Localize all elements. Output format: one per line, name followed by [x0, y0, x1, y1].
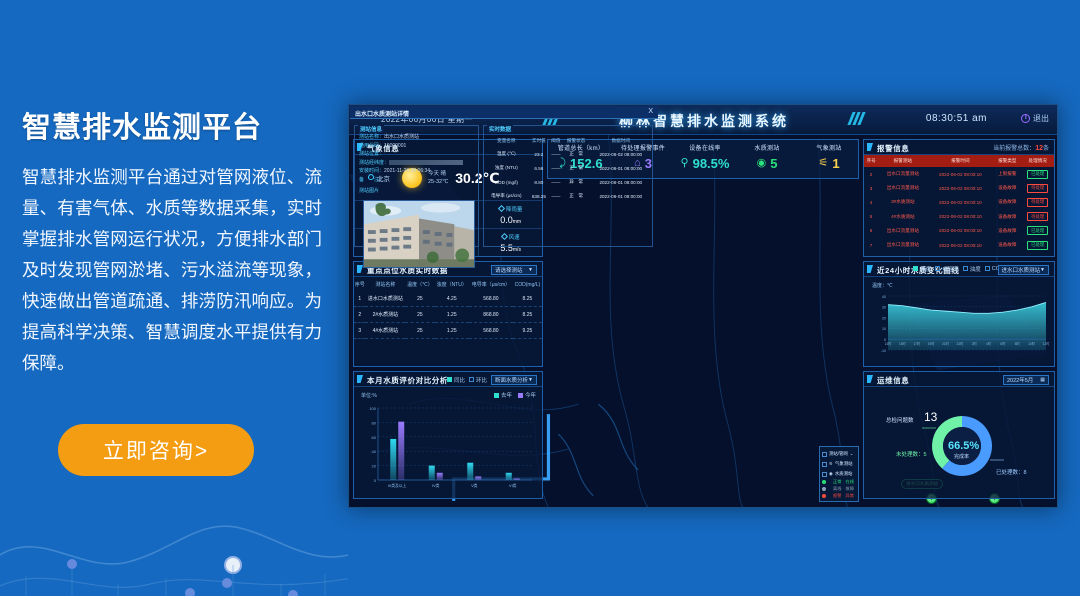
- wave-decoration: [0, 466, 348, 596]
- svg-text:6时: 6时: [1000, 341, 1006, 346]
- bar-panel-header: 本月水质评价对比分析 同比 环比 断面水质分析 ▼: [354, 372, 542, 387]
- rt-value: 8.80: [529, 175, 550, 189]
- alarm-time: 2022-06-02 08:00:10: [928, 195, 994, 209]
- info-key: 安装时间：: [359, 168, 384, 174]
- alarm-type: 设备故障: [993, 195, 1021, 209]
- legend-state-label: 报警: [833, 493, 844, 499]
- kpi-label: 气象测站: [798, 143, 860, 152]
- wq-col: COD(mg/L): [513, 277, 542, 291]
- svg-text:10: 10: [882, 327, 886, 331]
- rt-col: 实时值: [529, 134, 550, 147]
- bar-analysis-select[interactable]: 断面水质分析 ▼: [491, 375, 537, 385]
- wq-cell-name: 进水口水质测站: [365, 291, 405, 307]
- svg-text:10时: 10时: [1028, 341, 1036, 346]
- alarm-no: 7: [864, 238, 878, 252]
- alarm-type: 设备故障: [993, 238, 1021, 252]
- svg-text:30: 30: [882, 306, 886, 310]
- wq-station-select[interactable]: 请选择测站 ▼: [491, 265, 537, 275]
- info-key: 通用代码：: [359, 143, 384, 149]
- alarm-panel-title: 报警信息: [877, 143, 909, 154]
- chevron-down-icon: ▼: [528, 377, 533, 383]
- legend-state-label: 正常: [833, 479, 844, 485]
- alarm-panel-header: 报警信息 当前报警总数：12条: [864, 140, 1054, 155]
- layers-icon: [822, 452, 827, 457]
- checkbox-icon[interactable]: [822, 462, 827, 467]
- donut-center-label: 完成率: [954, 453, 969, 460]
- kpi-label: 水质测站: [736, 143, 798, 152]
- legend-state-label: 离线: [833, 486, 844, 492]
- table-row: COD (mg/l) 8.80 —— 异 常 2022-06-01 08:00:…: [484, 175, 652, 189]
- info-key: 测站位置：: [359, 151, 384, 157]
- svg-text:40: 40: [882, 295, 886, 299]
- rt-limit: ——: [549, 161, 562, 175]
- bar-legend-this-year[interactable]: 今年: [518, 391, 536, 399]
- redacted-value: [389, 160, 463, 165]
- realtime-data-box: 实时数据 变量名称 实时值 阈值 报警状态 数据时间 温度 (℃) 23.2 —…: [483, 125, 653, 247]
- month-picker-value: 2022年5月: [1007, 376, 1033, 384]
- table-row[interactable]: 3 4#水质测站 25 1.25 568.80 9.25: [354, 323, 542, 339]
- svg-text:-10: -10: [881, 349, 886, 353]
- legend-state-label: 异常: [846, 493, 857, 499]
- svg-text:100: 100: [369, 406, 376, 411]
- svg-text:80: 80: [372, 420, 377, 425]
- svg-text:21时: 21时: [942, 341, 950, 346]
- checkbox-icon[interactable]: [822, 472, 827, 477]
- status-dot-offline: [822, 487, 826, 491]
- chevron-down-icon: ▼: [528, 267, 533, 273]
- alarm-time: 2022-06-02 08:00:10: [928, 224, 994, 238]
- map-legend-item-label: 气象测站: [835, 461, 853, 467]
- rt-name: 温度 (℃): [484, 147, 529, 161]
- line-legend-label: 浊度: [970, 265, 981, 273]
- alarm-no: 4: [864, 195, 878, 209]
- table-row[interactable]: 4 3#水质测站 2022-06-02 08:00:10 设备故障 待处理: [864, 195, 1054, 209]
- alarm-col: 报警类型: [993, 155, 1021, 167]
- alarm-station: 出水口流量测站: [878, 181, 927, 195]
- svg-text:13时: 13时: [885, 341, 893, 346]
- line-y-axis-label: 温度：℃: [872, 282, 893, 289]
- wq-col: 序号: [354, 277, 365, 291]
- water-quality-table-panel: 重点点位水质实时数据 请选择测站 ▼ 序号 测站名称 温度（℃） 浊度（NTU）…: [353, 261, 543, 367]
- svg-text:17时: 17时: [913, 341, 921, 346]
- wq-cell-cod: 8.25: [513, 307, 542, 323]
- wq-cell-cond: 868.80: [469, 307, 513, 323]
- line-station-select[interactable]: 进水口水质测站 ▼: [998, 265, 1049, 275]
- kpi-weather-stations: 气象测站 ⚟1: [798, 143, 860, 171]
- bar-legend-label: 今年: [525, 391, 536, 399]
- bar-legend-label: 去年: [501, 391, 512, 399]
- alarm-no: 5: [864, 210, 878, 224]
- wq-table-header-row: 序号 测站名称 温度（℃） 浊度（NTU） 电导率（μs/cm） COD(mg/…: [354, 277, 542, 291]
- svg-text:20: 20: [882, 316, 886, 320]
- alarm-type: 设备故障: [993, 210, 1021, 224]
- table-row[interactable]: 7 出水口流量测站 2022-06-02 08:00:10 设备故障 已处理: [864, 238, 1054, 252]
- bar-filter-yoy[interactable]: 同比: [447, 376, 465, 384]
- station-photo-title: 测站图片: [355, 184, 478, 196]
- donut-panel-title: 运维信息: [877, 375, 909, 386]
- svg-text:2时: 2时: [972, 341, 978, 346]
- water-station-icon: ◉: [829, 471, 833, 477]
- alarm-type: 上限报警: [993, 167, 1021, 181]
- bar-chart: 020406080100III类及以上IV类V类VI类: [360, 402, 538, 494]
- close-icon[interactable]: X: [648, 108, 653, 115]
- svg-text:40: 40: [372, 449, 377, 454]
- rt-limit: ——: [549, 189, 562, 203]
- bar-filter-mom-label: 环比: [476, 376, 487, 384]
- bar-filter-mom[interactable]: 环比: [469, 376, 487, 384]
- line-legend-label: 温度: [920, 265, 931, 273]
- alarm-col: 序号: [864, 155, 878, 167]
- maintenance-panel: 运维信息 2022年5月 ▦ 总检问题数 13 未处理数：5 已处理数：8 66…: [863, 371, 1055, 499]
- alarm-type: 设备故障: [993, 224, 1021, 238]
- wq-col: 温度（℃）: [405, 277, 434, 291]
- logout-button[interactable]: 退出: [1021, 113, 1049, 124]
- device-icon: ⚲: [681, 158, 689, 169]
- wq-cell-no: 2: [354, 307, 365, 323]
- line-legend-turbidity[interactable]: 浊度: [963, 265, 981, 273]
- info-value: 出水口水质测站: [384, 134, 419, 140]
- wq-cell-cod: 8.25: [513, 291, 542, 307]
- wq-cell-name: 4#水质测站: [365, 323, 405, 339]
- line-panel-header: 近24小时水质变化曲线 温度 电导率 浊度 COD 进水口水质测站 ▼: [864, 262, 1054, 277]
- alarm-header-row: 序号 报警测站 报警时间 报警类型 处理情况: [864, 155, 1054, 167]
- status-badge[interactable]: 待处理: [1027, 212, 1048, 221]
- line-legend-temperature[interactable]: 温度: [913, 265, 931, 273]
- info-key: 测站经纬度：: [359, 160, 389, 166]
- consult-now-button[interactable]: 立即咨询>: [58, 424, 254, 476]
- alarm-table: 序号 报警测站 报警时间 报警类型 处理情况 2 出水口流量测站 2022-06…: [864, 155, 1054, 252]
- wq-cell-ntu: 1.25: [435, 323, 470, 339]
- calendar-icon: ▦: [1040, 377, 1045, 383]
- alarm-panel: 报警信息 当前报警总数：12条 序号 报警测站 报警时间 报警类型 处理情况 2…: [863, 139, 1055, 257]
- alarm-total-value: 12: [1035, 145, 1043, 152]
- wq-cell-no: 1: [354, 291, 365, 307]
- bar-y-axis-label: 单位:%: [361, 392, 377, 399]
- alarm-type: 设备故障: [993, 181, 1021, 195]
- station-info-title: 测站信息: [358, 125, 384, 133]
- realtime-data-table: 变量名称 实时值 阈值 报警状态 数据时间 温度 (℃) 23.2 —— 正 常…: [484, 134, 652, 203]
- weather-station-icon: ⚟: [829, 461, 833, 467]
- rt-limit: ——: [549, 175, 562, 189]
- station-info-fields: 测站名称：出水口水质测站 通用代码：10000001 测站位置： 测站经纬度： …: [355, 126, 478, 184]
- wq-col: 电导率（μs/cm）: [469, 277, 513, 291]
- chevron-down-icon: ▼: [1040, 267, 1045, 273]
- kpi-value: 98.5%: [693, 156, 730, 171]
- month-picker[interactable]: 2022年5月 ▦: [1003, 375, 1049, 385]
- alarm-col: 处理情况: [1021, 155, 1054, 167]
- alarm-time: 2022-06-02 08:00:10: [928, 181, 994, 195]
- bar-panel-title: 本月水质评价对比分析: [367, 375, 448, 386]
- wq-cell-ntu: 1.25: [435, 307, 470, 323]
- rt-time: 2022-06-01 08:00:00: [590, 189, 652, 203]
- page-title: 智慧排水监测平台: [22, 104, 262, 146]
- bar-legend-last-year[interactable]: 去年: [494, 391, 512, 399]
- alarm-col: 报警测站: [878, 155, 927, 167]
- table-row[interactable]: 6 出水口流量测站 2022-06-02 08:00:10 设备故障 已处理: [864, 224, 1054, 238]
- alarm-col: 报警时间: [928, 155, 994, 167]
- rt-col: 变量名称: [484, 134, 529, 147]
- water-quality-trend-panel: 近24小时水质变化曲线 温度 电导率 浊度 COD 进水口水质测站 ▼ 温度：℃…: [863, 261, 1055, 367]
- rt-state: 正 常: [563, 189, 590, 203]
- kpi-value: 5: [770, 156, 777, 171]
- rt-state: 正 常: [563, 161, 590, 175]
- status-dot-alarm: [822, 494, 826, 498]
- svg-text:V类: V类: [471, 483, 478, 488]
- chevron-down-icon: ⌄: [850, 451, 854, 457]
- realtime-data-title: 实时数据: [487, 125, 513, 133]
- alarm-time: 2022-06-02 08:00:10: [928, 238, 994, 252]
- rt-value: 23.2: [529, 147, 550, 161]
- wq-cell-name: 2#水质测站: [365, 307, 405, 323]
- alarm-station: 4#水质测站: [878, 210, 927, 224]
- svg-text:23时: 23时: [956, 341, 964, 346]
- wq-table: 序号 测站名称 温度（℃） 浊度（NTU） 电导率（μs/cm） COD(mg/…: [354, 277, 542, 339]
- rt-state: 正 常: [563, 147, 590, 161]
- rt-col: 阈值: [549, 134, 562, 147]
- info-value: 2021-11-20 08:06:34: [384, 168, 430, 174]
- table-row: 浊度 (NTU) 6.56 —— 正 常 2022-06-01 08:00:00: [484, 161, 652, 175]
- info-key: 备 注：: [359, 177, 384, 183]
- table-row[interactable]: 5 4#水质测站 2022-06-02 08:00:10 设备故障 待处理: [864, 210, 1054, 224]
- wq-cell-cod: 9.25: [513, 323, 542, 339]
- svg-text:60: 60: [372, 435, 377, 440]
- table-row: 电导率 (μs/cm) 638.25 —— 正 常 2022-06-01 08:…: [484, 189, 652, 203]
- alarm-no: 2: [864, 167, 878, 181]
- line-chart: -1001020304013时15时17时19时21时23时2时4时6时8时10…: [868, 290, 1052, 364]
- line-legend: 温度 电导率 浊度 COD: [913, 265, 1004, 273]
- svg-text:12时: 12时: [1043, 341, 1051, 346]
- alarm-no: 6: [864, 224, 878, 238]
- svg-text:8时: 8时: [1015, 341, 1021, 346]
- rt-state: 异 常: [563, 175, 590, 189]
- donut-panel-header: 运维信息 2022年5月 ▦: [864, 372, 1054, 387]
- wq-station-select-value: 请选择测站: [495, 266, 523, 274]
- wq-cell-ntu: 4.25: [435, 291, 470, 307]
- info-key: 测站名称：: [359, 134, 384, 140]
- status-badge[interactable]: 已处理: [1027, 226, 1048, 235]
- header-right-decoration: [850, 112, 863, 125]
- alarm-time: 2022-06-02 08:00:10: [928, 167, 994, 181]
- map-legend: 测站/管网 ⌄ ⚟ 气象测站 ◉ 水质测站 正常 在线 离线 故障 报警 异常: [819, 446, 859, 502]
- svg-text:15时: 15时: [899, 341, 907, 346]
- status-badge[interactable]: 已处理: [1027, 170, 1048, 179]
- table-row[interactable]: 1 进水口水质测站 25 4.25 568.80 8.25: [354, 291, 542, 307]
- donut-center-value: 66.5%: [948, 440, 979, 452]
- alarm-station: 3#水质测站: [878, 195, 927, 209]
- status-badge[interactable]: 待处理: [1027, 198, 1048, 207]
- svg-text:III类及以上: III类及以上: [388, 483, 407, 488]
- kpi-water-stations: 水质测站 ◉5: [736, 143, 798, 171]
- legend-state-label: 故障: [846, 486, 857, 492]
- kpi-device-online-rate: 设备在线率 ⚲98.5%: [674, 143, 736, 171]
- wq-cell-temp: 25: [405, 307, 434, 323]
- station-photo: [363, 200, 475, 268]
- water-quality-compare-panel: 本月水质评价对比分析 同比 环比 断面水质分析 ▼ 单位:% 去年 今年 020…: [353, 371, 543, 499]
- bar-analysis-select-value: 断面水质分析: [495, 376, 528, 384]
- info-value: 10000001: [384, 143, 406, 149]
- map-legend-weather-station[interactable]: ⚟ 气象测站: [822, 459, 856, 469]
- bar-filter-yoy-label: 同比: [454, 376, 465, 384]
- kpi-label: 设备在线率: [674, 143, 736, 152]
- map-legend-water-station[interactable]: ◉ 水质测站: [822, 469, 856, 479]
- logout-label: 退出: [1033, 113, 1049, 124]
- water-station-icon: ◉: [757, 158, 767, 169]
- svg-text:4时: 4时: [986, 341, 992, 346]
- weather-metric-unit: m/s: [513, 247, 521, 253]
- map-legend-header[interactable]: 测站/管网 ⌄: [822, 449, 856, 459]
- rt-col: 报警状态: [563, 134, 590, 147]
- wq-cell-cond: 568.80: [469, 323, 513, 339]
- alarm-total-unit: 条: [1043, 146, 1049, 152]
- rt-limit: ——: [549, 147, 562, 161]
- wq-cell-temp: 25: [405, 323, 434, 339]
- map-legend-item-label: 水质测站: [835, 471, 853, 477]
- wq-col: 测站名称: [365, 277, 405, 291]
- dialog-header: 出水口水质测站详情 X: [350, 106, 658, 119]
- svg-text:VI类: VI类: [509, 483, 517, 488]
- rt-time: 2022-06-02 08:00:00: [590, 147, 652, 161]
- map-legend-states: 正常 在线 离线 故障 报警 异常: [822, 479, 856, 499]
- wq-cell-temp: 25: [405, 291, 434, 307]
- wq-col: 浊度（NTU）: [435, 277, 470, 291]
- alarm-station: 出水口流量测站: [878, 238, 927, 252]
- table-row[interactable]: 2 2#水质测站 25 1.25 868.80 8.25: [354, 307, 542, 323]
- table-row: 温度 (℃) 23.2 —— 正 常 2022-06-02 08:00:00: [484, 147, 652, 161]
- weather-station-icon: ⚟: [818, 158, 828, 169]
- status-dot-normal: [822, 480, 826, 484]
- header-clock: 08:30:51 am: [926, 113, 987, 124]
- alarm-station: 出水口流量测站: [878, 167, 927, 181]
- promo-panel: 智慧排水监测平台 智慧排水监测平台通过对管网液位、流量、有害气体、水质等数据采集…: [0, 0, 348, 596]
- alarm-total-label: 当前报警总数：: [993, 146, 1035, 152]
- svg-text:0: 0: [374, 478, 377, 483]
- rt-name: 电导率 (μs/cm): [484, 189, 529, 203]
- promo-description: 智慧排水监测平台通过对管网液位、流量、有害气体、水质等数据采集，实时掌握排水管网…: [22, 162, 322, 379]
- station-info-box: 测站信息 测站名称：出水口水质测站 通用代码：10000001 测站位置： 测站…: [354, 125, 479, 247]
- line-legend-conductivity[interactable]: 电导率: [935, 265, 959, 273]
- rt-time: 2022-06-01 08:00:00: [590, 161, 652, 175]
- alarm-time: 2022-06-02 08:00:10: [928, 210, 994, 224]
- alarm-total: 当前报警总数：12条: [993, 143, 1049, 152]
- line-legend-label: 电导率: [942, 265, 959, 273]
- alarm-station: 出水口流量测站: [878, 224, 927, 238]
- legend-state-label: 在线: [846, 479, 857, 485]
- bar-legend: 去年 今年: [494, 391, 536, 399]
- table-row[interactable]: 2 出水口流量测站 2022-06-02 08:00:10 上限报警 已处理: [864, 167, 1054, 181]
- svg-text:20: 20: [372, 464, 377, 469]
- rt-time: 2022-06-01 08:00:00: [590, 175, 652, 189]
- station-detail-dialog: 出水口水质测站详情 X 测站信息 测站名称：出水口水质测站 通用代码：10000…: [349, 105, 659, 253]
- dashboard-screenshot: 2022年06月06日 星期一 柳林智慧排水监测系统 08:30:51 am 退…: [348, 104, 1058, 508]
- dialog-title: 出水口水质测站详情: [355, 109, 409, 118]
- realtime-header-row: 变量名称 实时值 阈值 报警状态 数据时间: [484, 134, 652, 147]
- table-row[interactable]: 3 出水口流量测站 2022-06-02 08:00:10 设备故障 待处理: [864, 181, 1054, 195]
- status-badge[interactable]: 已处理: [1027, 241, 1048, 250]
- status-badge[interactable]: 待处理: [1027, 184, 1048, 193]
- rt-value: 638.25: [529, 189, 550, 203]
- line-station-select-value: 进水口水质测站: [1002, 266, 1041, 274]
- svg-text:IV类: IV类: [432, 483, 440, 488]
- svg-text:19时: 19时: [928, 341, 936, 346]
- rt-name: 浊度 (NTU): [484, 161, 529, 175]
- power-icon: [1021, 114, 1030, 123]
- wq-cell-no: 3: [354, 323, 365, 339]
- rt-value: 6.56: [529, 161, 550, 175]
- wq-cell-cond: 568.80: [469, 291, 513, 307]
- kpi-value: 1: [832, 156, 839, 171]
- alarm-no: 3: [864, 181, 878, 195]
- rt-col: 数据时间: [590, 134, 652, 147]
- map-legend-title: 测站/管网: [829, 451, 848, 457]
- rt-name: COD (mg/l): [484, 175, 529, 189]
